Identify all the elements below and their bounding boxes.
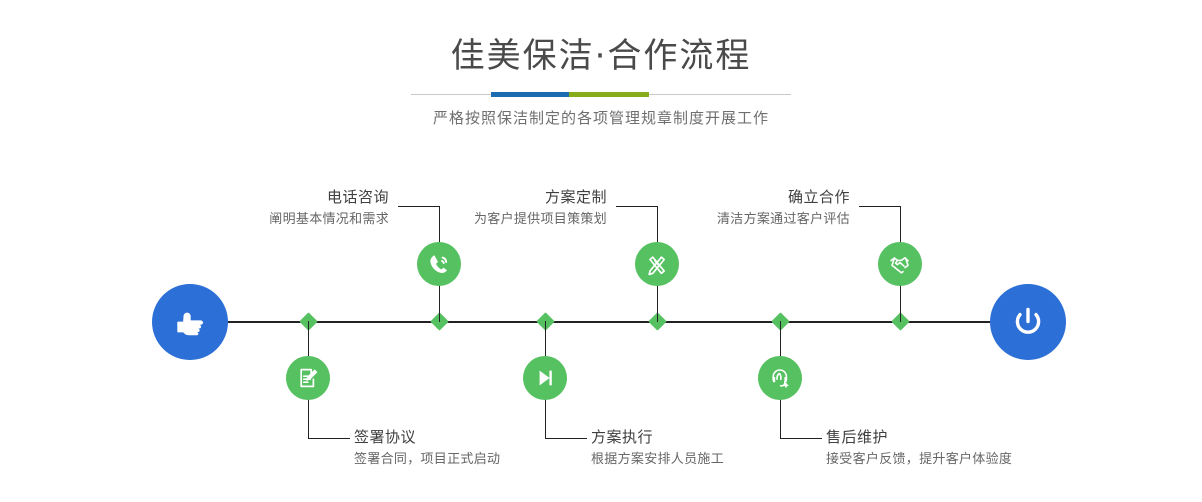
step-title-2: 签署协议	[354, 427, 584, 447]
timeline-end-marker	[990, 284, 1066, 360]
connector-horizontal-2	[308, 438, 350, 439]
step-node-2[interactable]	[286, 356, 330, 400]
step-desc-2: 签署合同，项目正式启动	[354, 450, 584, 469]
step-label-2: 签署协议 签署合同，项目正式启动	[354, 427, 584, 469]
connector-horizontal-4	[545, 438, 587, 439]
step-desc-6: 接受客户反馈，提升客户体验度	[826, 450, 1086, 469]
step-title-5: 确立合作	[660, 187, 850, 207]
step-label-1: 电话咨询 阐明基本情况和需求	[199, 187, 389, 229]
step-desc-1: 阐明基本情况和需求	[199, 210, 389, 229]
step-title-3: 方案定制	[417, 187, 607, 207]
step-node-1[interactable]	[417, 242, 461, 286]
step-node-6[interactable]	[758, 356, 802, 400]
step-title-1: 电话咨询	[199, 187, 389, 207]
pencil-ruler-icon	[644, 251, 670, 277]
step-node-5[interactable]	[878, 242, 922, 286]
power-icon	[1006, 300, 1050, 344]
step-label-4: 方案执行 根据方案安排人员施工	[591, 427, 821, 469]
step-title-4: 方案执行	[591, 427, 821, 447]
step-label-6: 售后维护 接受客户反馈，提升客户体验度	[826, 427, 1086, 469]
flowchart-page: 佳美保洁·合作流程 严格按照保洁制定的各项管理规章制度开展工作	[0, 0, 1202, 502]
process-timeline: 电话咨询 阐明基本情况和需求 签署协议 签署合同，项目正式启动	[0, 0, 1202, 502]
connector-horizontal-6	[780, 438, 822, 439]
step-label-3: 方案定制 为客户提供项目策策划	[417, 187, 607, 229]
step-label-5: 确立合作 清洁方案通过客户评估	[660, 187, 850, 229]
step-node-4[interactable]	[523, 356, 567, 400]
support-agent-icon	[767, 365, 793, 391]
play-forward-icon	[532, 365, 558, 391]
phone-call-icon	[426, 251, 452, 277]
step-title-6: 售后维护	[826, 427, 1086, 447]
step-desc-5: 清洁方案通过客户评估	[660, 210, 850, 229]
handshake-icon	[887, 251, 913, 277]
connector-horizontal-3	[616, 206, 658, 207]
pointing-hand-icon	[170, 302, 210, 342]
step-desc-3: 为客户提供项目策策划	[417, 210, 607, 229]
step-desc-4: 根据方案安排人员施工	[591, 450, 821, 469]
document-edit-icon	[295, 365, 321, 391]
step-node-3[interactable]	[635, 242, 679, 286]
timeline-start-marker	[152, 284, 228, 360]
connector-horizontal-5	[859, 206, 901, 207]
